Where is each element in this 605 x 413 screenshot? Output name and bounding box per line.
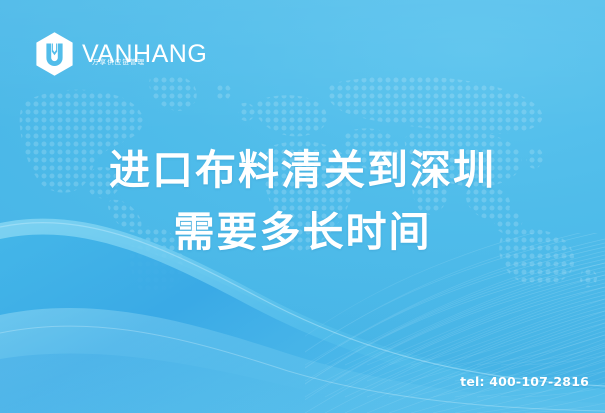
vanhang-hexagon-mark bbox=[34, 31, 75, 77]
contact-phone[interactable]: tel: 400-107-2816 bbox=[460, 374, 589, 389]
logo-subtext: 万享供应链管理 bbox=[92, 59, 145, 66]
headline-block: 进口布料清关到深圳 需要多长时间 bbox=[0, 139, 605, 263]
promo-banner: VANHANG 万享供应链管理 进口布料清关到深圳 需要多长时间 tel: 40… bbox=[0, 0, 605, 413]
brand-logo[interactable]: VANHANG 万享供应链管理 bbox=[34, 31, 207, 77]
logo-text-block: VANHANG 万享供应链管理 bbox=[82, 42, 207, 67]
headline-line-2: 需要多长时间 bbox=[0, 201, 605, 263]
headline-line-1: 进口布料清关到深圳 bbox=[0, 139, 605, 201]
